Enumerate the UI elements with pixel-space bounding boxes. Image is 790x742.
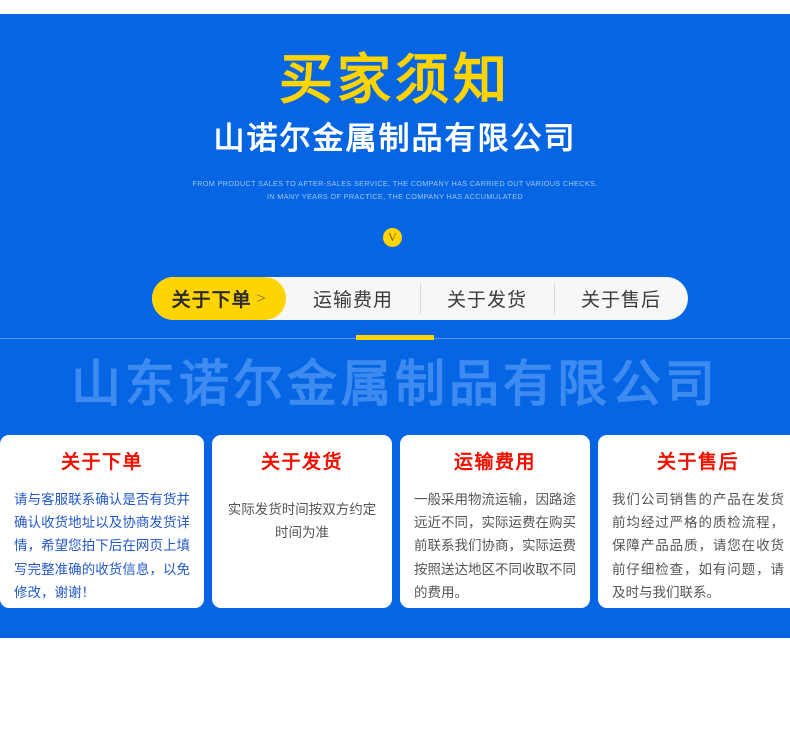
card-title: 关于售后	[612, 447, 784, 474]
page-root: 买家须知 山诺尔金属制品有限公司 FROM PRODUCT SALES TO A…	[0, 0, 790, 742]
info-card-list: 关于下单 请与客服联系确认是否有货并确认收货地址以及协商发货详情，希望您拍下后在…	[0, 435, 790, 608]
tab-about-delivery[interactable]: 关于发货	[420, 277, 554, 320]
hero-banner: 买家须知 山诺尔金属制品有限公司 FROM PRODUCT SALES TO A…	[0, 14, 790, 638]
tab-after-sales[interactable]: 关于售后	[554, 277, 688, 320]
company-subtitle: 山诺尔金属制品有限公司	[0, 122, 790, 156]
card-body: 请与客服联系确认是否有货并确认收货地址以及协商发货详情，希望您拍下后在网页上填写…	[14, 488, 190, 604]
card-body: 实际发货时间按双方约定时间为准	[226, 498, 378, 544]
page-title: 买家须知	[0, 52, 790, 109]
active-tab-indicator	[356, 335, 434, 340]
tab-label: 关于发货	[447, 285, 527, 312]
chevron-right-icon: >	[257, 290, 267, 307]
tab-shipping-fee[interactable]: 运输费用	[286, 277, 420, 320]
info-card-shipping-fee: 运输费用 一般采用物流运输，因路途远近不同，实际运费在购买前联系我们协商，实际运…	[400, 435, 590, 608]
tab-label: 关于下单	[172, 285, 252, 312]
tab-label: 运输费用	[313, 285, 393, 312]
tab-bar: 关于下单 > 运输费用 关于发货 关于售后	[152, 277, 688, 320]
info-card-about-delivery: 关于发货 实际发货时间按双方约定时间为准	[212, 435, 392, 608]
english-tagline-line-2: IN MANY YEARS OF PRACTICE, THE COMPANY H…	[12, 190, 778, 203]
card-title: 运输费用	[414, 447, 576, 474]
info-card-after-sales: 关于售后 我们公司销售的产品在发货前均经过严格的质检流程，保障产品品质，请您在收…	[598, 435, 790, 608]
card-title: 关于发货	[226, 447, 378, 474]
card-body: 我们公司销售的产品在发货前均经过严格的质检流程，保障产品品质，请您在收货前仔细检…	[612, 488, 784, 604]
verified-v-icon: V	[383, 228, 402, 247]
card-title: 关于下单	[14, 447, 190, 474]
company-watermark: 山东诺尔金属制品有限公司	[0, 354, 790, 414]
tab-label: 关于售后	[581, 285, 661, 312]
english-tagline: FROM PRODUCT SALES TO AFTER-SALES SERVIC…	[0, 177, 790, 203]
card-body: 一般采用物流运输，因路途远近不同，实际运费在购买前联系我们协商，实际运费按照送达…	[414, 488, 576, 604]
tab-about-ordering[interactable]: 关于下单 >	[152, 277, 286, 320]
english-tagline-line-1: FROM PRODUCT SALES TO AFTER-SALES SERVIC…	[12, 177, 778, 190]
info-card-about-ordering: 关于下单 请与客服联系确认是否有货并确认收货地址以及协商发货详情，希望您拍下后在…	[0, 435, 204, 608]
